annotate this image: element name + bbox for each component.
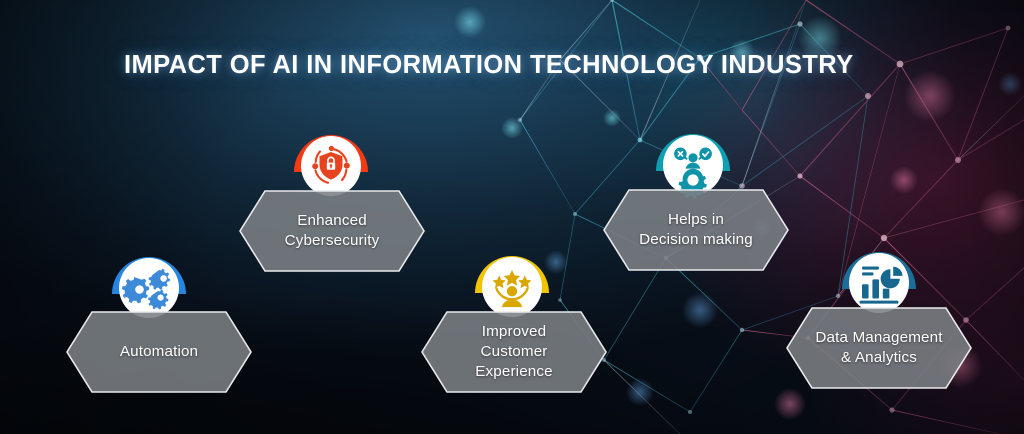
page-title: IMPACT OF AI IN INFORMATION TECHNOLOGY I… [124, 51, 853, 80]
hexagon-shape [603, 189, 789, 271]
hexagon-automation[interactable]: Automation [66, 311, 252, 393]
hexagon-shape [421, 311, 607, 393]
hexagon-improved-customer-experience[interactable]: Improved Customer Experience [421, 311, 607, 393]
hexagon-helps-in-decision-making[interactable]: Helps in Decision making [603, 189, 789, 271]
hexagon-data-management-analytics[interactable]: Data Management & Analytics [786, 307, 972, 389]
hexagon-enhanced-cybersecurity[interactable]: Enhanced Cybersecurity [239, 190, 425, 272]
hexagon-shape [66, 311, 252, 393]
infographic-canvas: IMPACT OF AI IN INFORMATION TECHNOLOGY I… [0, 0, 1024, 434]
hexagon-shape [786, 307, 972, 389]
hexagon-shape [239, 190, 425, 272]
